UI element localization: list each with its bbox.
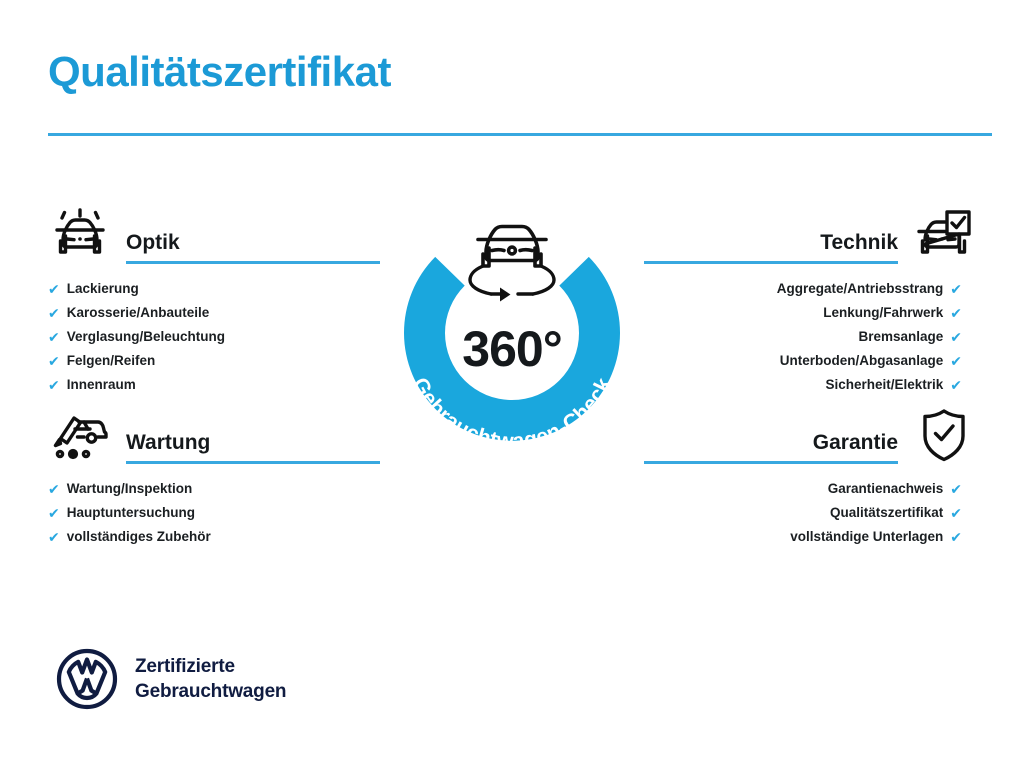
- check-icon: ✔: [48, 330, 60, 344]
- checklist: Garantienachweis ✔ Qualitätszertifikat ✔…: [644, 477, 976, 549]
- list-item-label: Lackierung: [67, 277, 139, 301]
- section-title: Wartung: [126, 431, 380, 461]
- list-item-label: Qualitätszertifikat: [830, 501, 943, 525]
- list-item: ✔ Hauptuntersuchung: [48, 501, 380, 525]
- check-icon: ✔: [950, 306, 962, 320]
- section-title: Garantie: [644, 431, 898, 461]
- badge-360-gebrauchtwagen-check: Gebrauchtwagen-Check 360°: [378, 206, 646, 474]
- list-item-label: Felgen/Reifen: [67, 349, 156, 373]
- section-header: Technik: [644, 208, 976, 264]
- list-item-label: Bremsanlage: [858, 325, 943, 349]
- list-item-label: Lenkung/Fahrwerk: [823, 301, 943, 325]
- section-divider: [644, 261, 898, 264]
- check-icon: ✔: [48, 378, 60, 392]
- check-icon: ✔: [950, 330, 962, 344]
- check-icon: ✔: [950, 378, 962, 392]
- section-optik: Optik ✔ Lackierung ✔ Karosserie/Anbautei…: [48, 208, 380, 397]
- list-item-label: vollständige Unterlagen: [790, 525, 943, 549]
- section-header: Wartung: [48, 408, 380, 464]
- list-item-label: vollständiges Zubehör: [67, 525, 211, 549]
- check-icon: ✔: [950, 506, 962, 520]
- section-technik: Technik Aggregate: [644, 208, 976, 397]
- footer-wordmark: Zertifizierte Gebrauchtwagen: [135, 654, 286, 704]
- pencil-car-service-icon: [48, 406, 112, 464]
- list-item-label: Unterboden/Abgasanlage: [780, 349, 944, 373]
- list-item: ✔ vollständiges Zubehör: [48, 525, 380, 549]
- checklist: Aggregate/Antriebsstrang ✔ Lenkung/Fahrw…: [644, 277, 976, 397]
- check-icon: ✔: [950, 354, 962, 368]
- section-title-wrap: Technik: [644, 231, 898, 264]
- section-title-wrap: Garantie: [644, 431, 898, 464]
- list-item: vollständige Unterlagen ✔: [644, 525, 962, 549]
- section-title: Technik: [644, 231, 898, 261]
- section-garantie: Garantie Garantienachweis ✔ Qualitätszer…: [644, 408, 976, 549]
- list-item: ✔ Lackierung: [48, 277, 380, 301]
- check-icon: ✔: [48, 530, 60, 544]
- section-divider: [126, 461, 380, 464]
- section-divider: [644, 461, 898, 464]
- list-item-label: Sicherheit/Elektrik: [825, 373, 943, 397]
- list-item: Sicherheit/Elektrik ✔: [644, 373, 962, 397]
- check-icon: ✔: [48, 306, 60, 320]
- section-title-wrap: Wartung: [126, 431, 380, 464]
- list-item: Unterboden/Abgasanlage ✔: [644, 349, 962, 373]
- section-header: Garantie: [644, 408, 976, 464]
- section-wartung: Wartung ✔ Wartung/Inspektion ✔ Hauptunte…: [48, 408, 380, 549]
- list-item-label: Garantienachweis: [828, 477, 944, 501]
- list-item-label: Verglasung/Beleuchtung: [67, 325, 225, 349]
- check-icon: ✔: [48, 282, 60, 296]
- check-icon: ✔: [950, 482, 962, 496]
- checklist: ✔ Lackierung ✔ Karosserie/Anbauteile ✔ V…: [48, 277, 380, 397]
- footer-wordmark-line1: Zertifizierte: [135, 654, 286, 679]
- list-item-label: Hauptuntersuchung: [67, 501, 195, 525]
- list-item-label: Aggregate/Antriebsstrang: [777, 277, 944, 301]
- certificate-page: Qualitätszertifikat Optik: [0, 0, 1024, 768]
- car-checkbox-icon: [912, 206, 976, 264]
- list-item: Bremsanlage ✔: [644, 325, 962, 349]
- list-item: ✔ Wartung/Inspektion: [48, 477, 380, 501]
- check-icon: ✔: [48, 482, 60, 496]
- list-item: Garantienachweis ✔: [644, 477, 962, 501]
- list-item: Aggregate/Antriebsstrang ✔: [644, 277, 962, 301]
- section-title-wrap: Optik: [126, 231, 380, 264]
- list-item-label: Innenraum: [67, 373, 136, 397]
- list-item-label: Wartung/Inspektion: [67, 477, 193, 501]
- list-item: ✔ Karosserie/Anbauteile: [48, 301, 380, 325]
- footer-logo: Zertifizierte Gebrauchtwagen: [56, 648, 286, 710]
- page-title: Qualitätszertifikat: [48, 50, 391, 94]
- shield-check-icon: [912, 406, 976, 464]
- list-item: ✔ Verglasung/Beleuchtung: [48, 325, 380, 349]
- check-icon: ✔: [950, 282, 962, 296]
- list-item: Qualitätszertifikat ✔: [644, 501, 962, 525]
- header-divider: [48, 133, 992, 136]
- car-rotate-360-icon: [454, 204, 570, 308]
- volkswagen-logo-icon: [56, 648, 118, 710]
- section-divider: [126, 261, 380, 264]
- list-item: Lenkung/Fahrwerk ✔: [644, 301, 962, 325]
- checklist: ✔ Wartung/Inspektion ✔ Hauptuntersuchung…: [48, 477, 380, 549]
- list-item: ✔ Felgen/Reifen: [48, 349, 380, 373]
- car-shine-icon: [48, 206, 112, 264]
- list-item-label: Karosserie/Anbauteile: [67, 301, 210, 325]
- check-icon: ✔: [48, 354, 60, 368]
- section-title: Optik: [126, 231, 380, 261]
- section-header: Optik: [48, 208, 380, 264]
- check-icon: ✔: [48, 506, 60, 520]
- check-icon: ✔: [950, 530, 962, 544]
- footer-wordmark-line2: Gebrauchtwagen: [135, 679, 286, 704]
- list-item: ✔ Innenraum: [48, 373, 380, 397]
